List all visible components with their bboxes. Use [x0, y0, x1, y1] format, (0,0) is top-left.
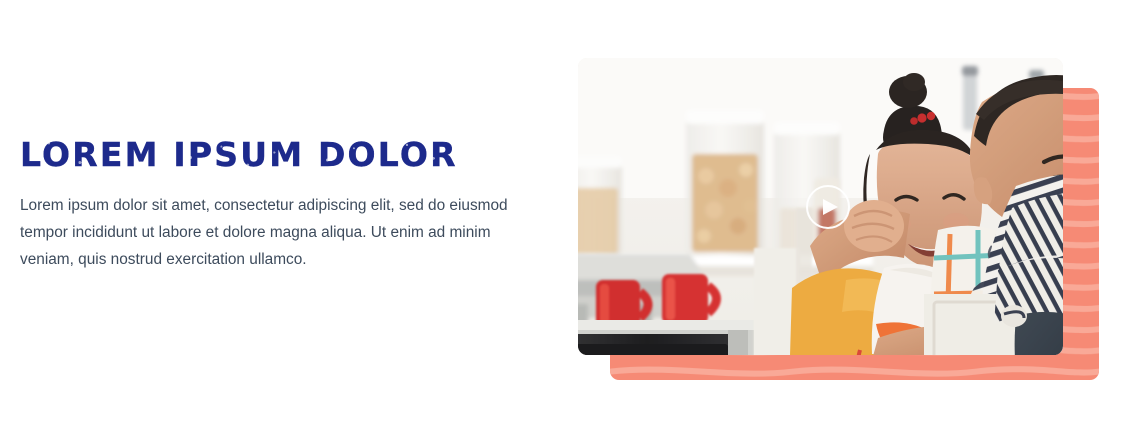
play-icon: [823, 199, 838, 215]
page-title: LOREM IPSUM DOLOR: [20, 136, 458, 174]
play-button[interactable]: [806, 185, 850, 229]
hero-section: LOREM IPSUM DOLOR Lorem ipsum dolor sit …: [0, 0, 1128, 428]
hero-body-text: Lorem ipsum dolor sit amet, consectetur …: [20, 192, 540, 273]
hero-media-block: [578, 58, 1099, 380]
hero-text-column: LOREM IPSUM DOLOR Lorem ipsum dolor sit …: [20, 136, 545, 273]
